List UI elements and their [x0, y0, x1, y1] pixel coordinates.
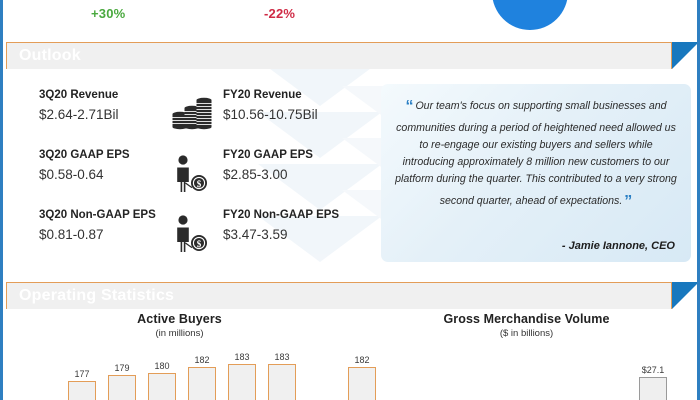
metric-label: FY20 Non-GAAP EPS	[223, 208, 373, 224]
outlook-metrics: 3Q20 Revenue $2.64-2.71Bil	[3, 80, 375, 270]
outlook-right-metric: FY20 GAAP EPS $2.85-3.00	[223, 148, 373, 185]
outlook-left-metric: 3Q20 GAAP EPS $0.58-0.64	[39, 148, 169, 185]
quote-text: Our team's focus on supporting small bus…	[395, 100, 677, 207]
metric-label: 3Q20 GAAP EPS	[39, 148, 169, 164]
banner-wedge	[672, 282, 699, 309]
section-header-outlook: Outlook	[6, 42, 672, 69]
growth-percent-up: +30%	[91, 6, 125, 21]
report-page: +30% -22% Outlook 3Q20 Revenue $2.64-2.7…	[0, 0, 700, 400]
bar-value-label: 183	[262, 352, 302, 362]
quote-attribution: - Jamie Iannone, CEO	[562, 240, 675, 252]
top-metrics-strip: +30% -22%	[6, 0, 694, 38]
bar-value-label: 180	[142, 361, 182, 371]
bar	[268, 364, 296, 400]
person-with-dollar-icon: $	[169, 212, 215, 254]
chart-active-buyers: Active Buyers (in millions) 177179180182…	[6, 312, 353, 400]
metric-label: 3Q20 Revenue	[39, 88, 169, 104]
chart-subtitle: (in millions)	[6, 328, 353, 339]
chart-subtitle: ($ in billions)	[353, 328, 700, 339]
metric-value: $2.85-3.00	[223, 165, 373, 185]
bar-value-label: 177	[62, 369, 102, 379]
svg-text:$: $	[197, 179, 202, 189]
bar	[188, 367, 216, 400]
ceo-quote-card: “Our team's focus on supporting small bu…	[381, 84, 691, 262]
quote-open-mark: “	[405, 98, 413, 115]
bar-value-label: 182	[182, 355, 222, 365]
person-with-dollar-icon: $	[169, 152, 215, 194]
charts-area: Active Buyers (in millions) 177179180182…	[6, 312, 694, 400]
growth-percent-down: -22%	[264, 6, 295, 21]
chart-plot-area: 177179180182183183182	[6, 346, 353, 400]
banner-wedge	[672, 42, 699, 69]
coin-stacks-icon	[169, 92, 215, 134]
outlook-row: 3Q20 GAAP EPS $0.58-0.64 $ FY20 GAAP EPS	[3, 148, 375, 200]
bar	[108, 375, 136, 400]
metric-value: $0.58-0.64	[39, 165, 169, 185]
metric-label: FY20 GAAP EPS	[223, 148, 373, 164]
chart-title: Active Buyers	[6, 312, 353, 326]
outlook-right-metric: FY20 Revenue $10.56-10.75Bil	[223, 88, 373, 125]
quote-close-mark: ”	[624, 193, 632, 210]
metric-label: FY20 Revenue	[223, 88, 373, 104]
quote-text-block: “Our team's focus on supporting small bu…	[395, 94, 677, 214]
bar	[228, 364, 256, 400]
chart-gross-merchandise-volume: Gross Merchandise Volume ($ in billions)…	[353, 312, 700, 400]
decorative-circle	[492, 0, 568, 30]
outlook-row: 3Q20 Non-GAAP EPS $0.81-0.87 $ FY20 Non-…	[3, 208, 375, 260]
bar	[639, 377, 667, 400]
outlook-right-metric: FY20 Non-GAAP EPS $3.47-3.59	[223, 208, 373, 245]
bar	[148, 373, 176, 400]
outlook-left-metric: 3Q20 Non-GAAP EPS $0.81-0.87	[39, 208, 169, 245]
chart-title: Gross Merchandise Volume	[353, 312, 700, 326]
operating-statistics-title: Operating Statistics	[7, 287, 174, 305]
metric-value: $0.81-0.87	[39, 225, 169, 245]
metric-value: $3.47-3.59	[223, 225, 373, 245]
outlook-row: 3Q20 Revenue $2.64-2.71Bil	[3, 88, 375, 140]
bar-value-label: 183	[222, 352, 262, 362]
outlook-title: Outlook	[7, 47, 81, 65]
bar-value-label: $27.1	[633, 365, 673, 375]
metric-label: 3Q20 Non-GAAP EPS	[39, 208, 169, 224]
metric-value: $2.64-2.71Bil	[39, 105, 169, 125]
chart-plot-area: $27.1	[353, 346, 700, 400]
metric-value: $10.56-10.75Bil	[223, 105, 373, 125]
svg-text:$: $	[197, 239, 202, 249]
section-header-operating-statistics: Operating Statistics	[6, 282, 672, 309]
bar-value-label: 179	[102, 363, 142, 373]
outlook-left-metric: 3Q20 Revenue $2.64-2.71Bil	[39, 88, 169, 125]
bar	[68, 381, 96, 400]
